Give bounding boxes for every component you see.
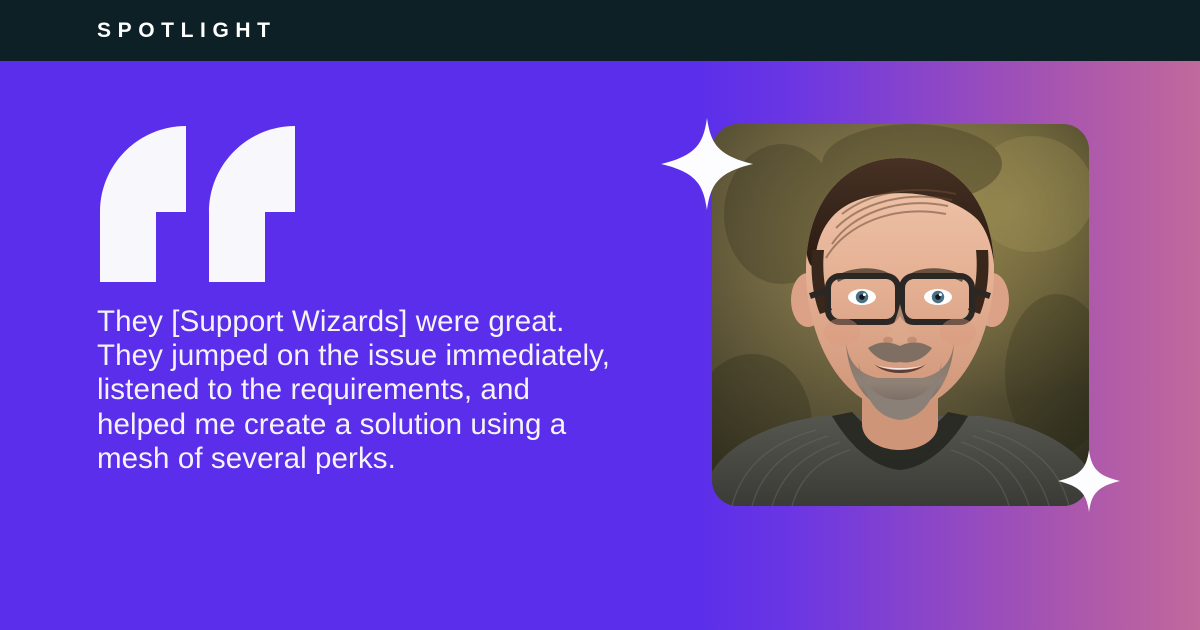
spotlight-testimonial-card: SPOTLIGHT They [Support Wizards] were gr… [0, 0, 1200, 630]
portrait-photo [712, 124, 1089, 506]
four-point-sparkle-icon [661, 116, 753, 212]
four-point-sparkle-icon [1058, 448, 1120, 514]
testimonial-quote-text: They [Support Wizards] were great. They … [97, 305, 697, 476]
header-bar: SPOTLIGHT [0, 0, 1200, 61]
page-title: SPOTLIGHT [97, 20, 277, 41]
open-quote-icon [100, 126, 295, 282]
body-panel: They [Support Wizards] were great. They … [0, 61, 1200, 630]
